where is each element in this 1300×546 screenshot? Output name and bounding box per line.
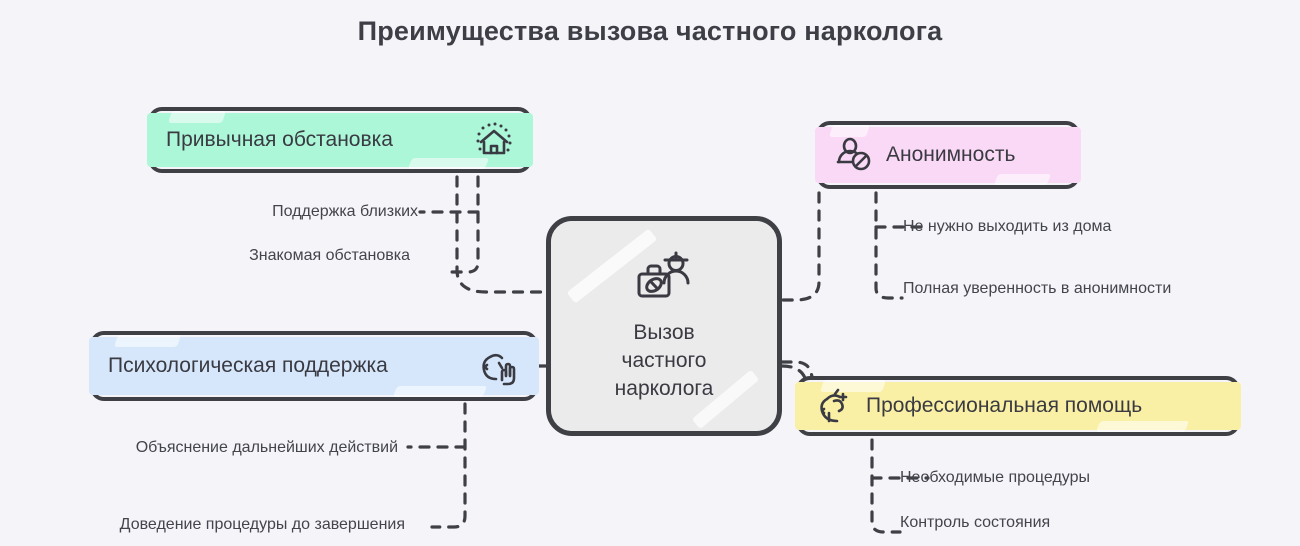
leaf-pink-1: Не нужно выходить из дома [903, 218, 1111, 236]
link-green-to-central [457, 177, 546, 292]
leaf-green-2: Знакомая обстановка [120, 247, 410, 265]
branch-node-yellow-label: Профессиональная помощь [866, 394, 1142, 418]
branch-node-blue-label: Психологическая поддержка [108, 354, 388, 378]
leaf-green-1: Поддержка близких [120, 203, 418, 221]
branch-node-green-label: Привычная обстановка [166, 128, 393, 152]
mindmap-canvas: Преимущества вызова частного нарколога [0, 0, 1300, 546]
leaf-yellow-2: Контроль состояния [900, 514, 1050, 532]
branch-node-yellow[interactable]: Профессиональная помощь [796, 376, 1240, 436]
branch-node-green[interactable]: Привычная обстановка [148, 107, 532, 173]
branch-node-pink[interactable]: Анонимность [816, 121, 1080, 189]
head-hand-support-icon [478, 346, 520, 386]
doctor-medical-bag-icon [632, 249, 696, 307]
leaf-blue-2: Доведение процедуры до завершения [40, 516, 405, 534]
leaf-yellow-1: Необходимые процедуры [900, 469, 1090, 487]
central-node-label: Вызов частного нарколога [615, 319, 714, 402]
leaf-pink-2: Полная уверенность в анонимности [903, 280, 1171, 298]
link-pink-to-central [782, 193, 819, 300]
central-node[interactable]: Вызов частного нарколога [546, 216, 782, 436]
anonymous-person-icon [834, 135, 876, 175]
link-yellow-children [872, 440, 900, 532]
head-medical-cross-icon [814, 385, 856, 427]
house-icon [474, 120, 514, 160]
branch-node-pink-label: Анонимность [886, 143, 1015, 167]
link-pink-children [876, 193, 902, 298]
branch-node-blue[interactable]: Психологическая поддержка [90, 331, 538, 401]
link-yellow-to-central [782, 366, 805, 378]
leaf-blue-1: Объяснение дальнейших действий [60, 439, 398, 457]
link-blue-children [432, 404, 465, 527]
